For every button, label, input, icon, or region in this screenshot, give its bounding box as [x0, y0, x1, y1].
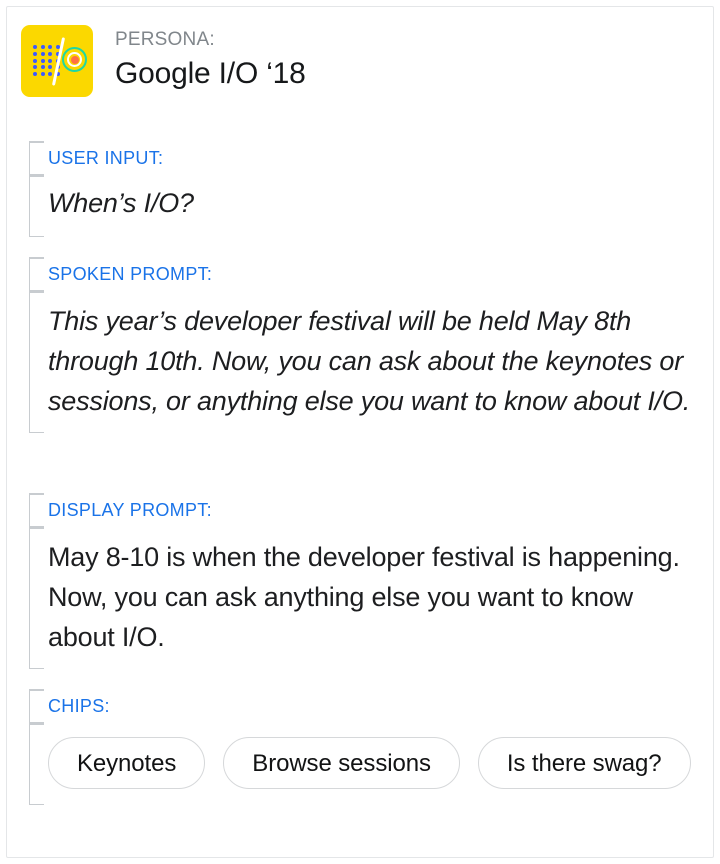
persona-card: PERSONA: Google I/O ‘18 USER INPUT: When…	[6, 6, 714, 858]
google-io-logo-icon	[21, 25, 93, 97]
display-prompt-body-row: May 8-10 is when the developer festival …	[21, 527, 713, 669]
chip-keynotes[interactable]: Keynotes	[48, 737, 205, 789]
chips-label-row: CHIPS:	[21, 689, 713, 723]
spoken-prompt-label-row: SPOKEN PROMPT:	[21, 257, 713, 291]
logo-core-dot	[71, 56, 79, 64]
bracket-display-prompt-label	[29, 493, 44, 527]
user-input-label-row: USER INPUT:	[21, 141, 713, 175]
chip-is-there-swag[interactable]: Is there swag?	[478, 737, 691, 789]
chips-label: CHIPS:	[48, 695, 110, 717]
display-prompt-label-row: DISPLAY PROMPT:	[21, 493, 713, 527]
chip-browse-sessions[interactable]: Browse sessions	[223, 737, 460, 789]
persona-label: PERSONA:	[115, 27, 306, 53]
spoken-prompt-text: This year’s developer festival will be h…	[21, 291, 713, 433]
persona-text-block: PERSONA: Google I/O ‘18	[115, 25, 306, 93]
chips-body-row: Keynotes Browse sessions Is there swag?	[21, 723, 713, 805]
user-input-label: USER INPUT:	[48, 147, 163, 169]
bracket-spoken-prompt-label	[29, 257, 44, 291]
user-input-body-row: When’s I/O?	[21, 175, 713, 237]
section-user-input: USER INPUT: When’s I/O?	[21, 141, 713, 237]
display-prompt-text: May 8-10 is when the developer festival …	[21, 527, 713, 669]
section-display-prompt: DISPLAY PROMPT: May 8-10 is when the dev…	[21, 493, 713, 669]
bracket-user-input-label	[29, 141, 44, 175]
spoken-prompt-label: SPOKEN PROMPT:	[48, 263, 212, 285]
section-chips: CHIPS: Keynotes Browse sessions Is there…	[21, 689, 713, 805]
section-spoken-prompt: SPOKEN PROMPT: This year’s developer fes…	[21, 257, 713, 433]
chips-list: Keynotes Browse sessions Is there swag?	[21, 723, 713, 805]
spoken-prompt-body-row: This year’s developer festival will be h…	[21, 291, 713, 433]
persona-header: PERSONA: Google I/O ‘18	[21, 25, 306, 97]
persona-name: Google I/O ‘18	[115, 55, 306, 93]
user-input-text: When’s I/O?	[21, 175, 713, 237]
display-prompt-label: DISPLAY PROMPT:	[48, 499, 212, 521]
bracket-chips-label	[29, 689, 44, 723]
